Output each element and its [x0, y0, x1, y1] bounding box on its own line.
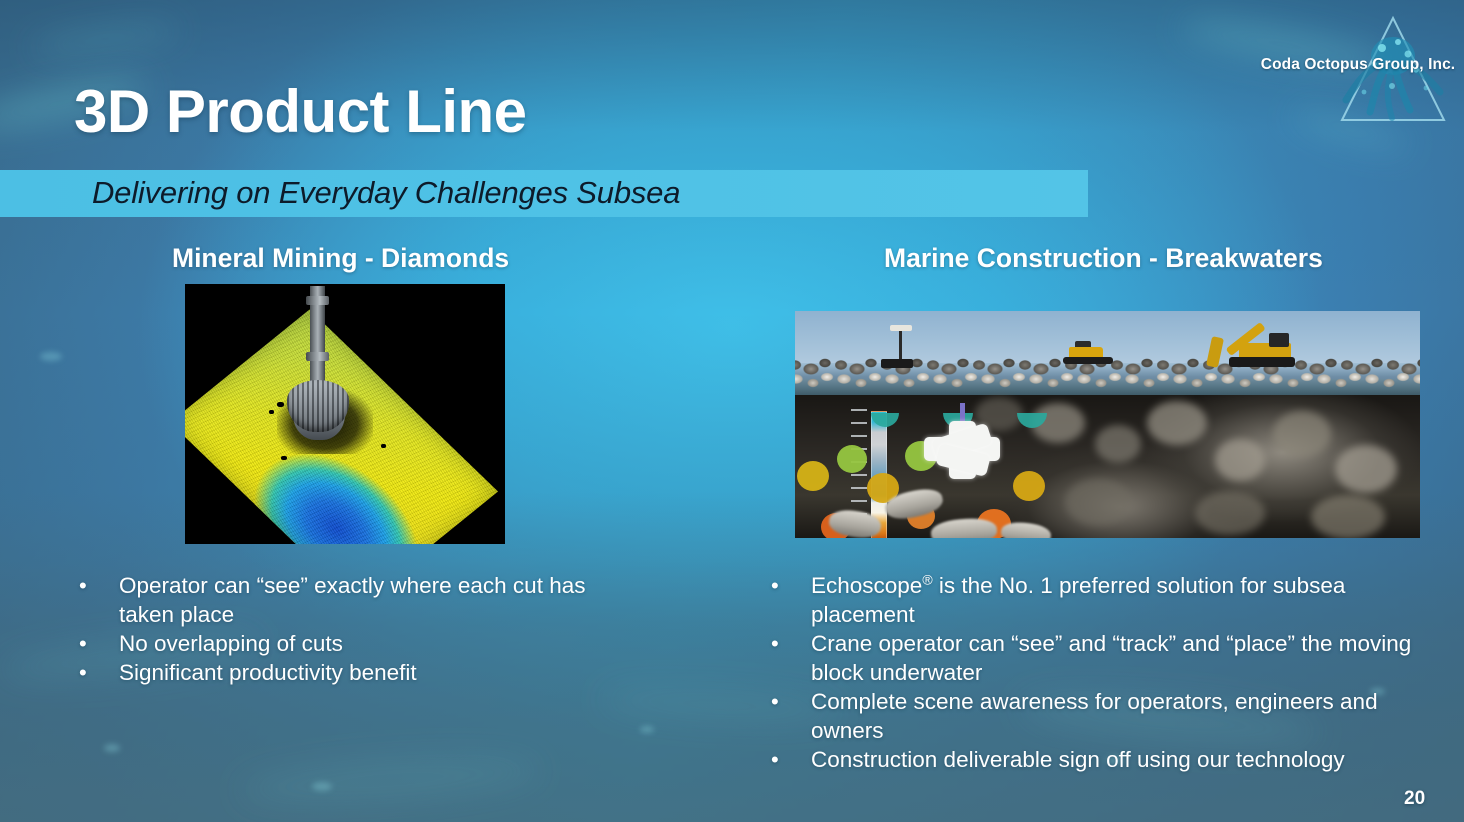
bullet-text: Construction deliverable sign off using … — [811, 745, 1416, 774]
page-title: 3D Product Line — [74, 82, 527, 142]
bullet-text-pre: Echoscope — [811, 573, 922, 598]
drill-collar-lower — [306, 352, 329, 361]
armour-block — [923, 421, 1001, 481]
list-item: • Complete scene awareness for operators… — [766, 687, 1416, 745]
placed-rubble-4 — [1000, 520, 1052, 538]
bullet-text: Significant productivity benefit — [119, 658, 634, 687]
bulldozer-icon — [1063, 347, 1115, 365]
rock-blob-4 — [1215, 439, 1265, 481]
company-logo: Coda Octopus Group, Inc. — [1258, 8, 1464, 140]
list-item: • Echoscope® is the No. 1 preferred solu… — [766, 571, 1416, 629]
bullet-icon: • — [766, 687, 811, 716]
bullet-icon: • — [74, 629, 119, 658]
list-item: • Construction deliverable sign off usin… — [766, 745, 1416, 774]
target-marker-yellow-3 — [1013, 471, 1045, 501]
rock-blob-6 — [1335, 445, 1397, 493]
sonar-3d-drill-seabed-image — [185, 284, 505, 544]
column-heading-marine-construction: Marine Construction - Breakwaters — [884, 243, 1323, 274]
list-item: • Significant productivity benefit — [74, 658, 634, 687]
cut-speck-2 — [269, 410, 274, 414]
target-marker-green-1 — [837, 445, 867, 473]
rock-blob-9 — [1311, 495, 1385, 538]
light-mast-icon — [847, 319, 887, 369]
rock-blob-3 — [1147, 401, 1207, 445]
list-item: • Crane operator can “see” and “track” a… — [766, 629, 1416, 687]
bullet-text: Operator can “see” exactly where each cu… — [119, 571, 634, 629]
breakwater-photo-and-sonar-image — [795, 311, 1420, 538]
presentation-slide: Coda Octopus Group, Inc. 3D Product Line… — [0, 0, 1464, 822]
cut-speck-4 — [413, 402, 417, 406]
rock-blob-8 — [1195, 491, 1265, 535]
list-item: • No overlapping of cuts — [74, 629, 634, 658]
sonar-3d-view — [795, 395, 1420, 538]
breakwater-photo — [795, 311, 1420, 395]
rock-blob-7 — [1065, 479, 1131, 525]
bullet-icon: • — [74, 658, 119, 687]
logo-text: Coda Octopus Group, Inc. — [1258, 56, 1458, 74]
placed-rubble-3 — [930, 517, 998, 538]
bullet-text: No overlapping of cuts — [119, 629, 634, 658]
cut-speck-1 — [277, 402, 284, 407]
bullet-icon: • — [766, 629, 811, 658]
subtitle-text: Delivering on Everyday Challenges Subsea — [92, 175, 680, 211]
list-item: • Operator can “see” exactly where each … — [74, 571, 634, 629]
bullet-text: Complete scene awareness for operators, … — [811, 687, 1416, 745]
registered-trademark-icon: ® — [922, 572, 932, 588]
bullet-text: Echoscope® is the No. 1 preferred soluti… — [811, 571, 1416, 629]
bullet-list-mineral-mining: • Operator can “see” exactly where each … — [74, 571, 634, 687]
page-number: 20 — [1404, 788, 1425, 810]
bullet-icon: • — [74, 571, 119, 600]
cut-speck-3 — [381, 444, 386, 448]
bullet-icon: • — [766, 745, 811, 774]
breakwater-rocks-light — [795, 369, 1420, 393]
excavator-icon — [1213, 313, 1309, 367]
rock-blob-2 — [1095, 425, 1141, 463]
rock-blob-5 — [1273, 411, 1331, 457]
bullet-list-marine-construction: • Echoscope® is the No. 1 preferred solu… — [766, 571, 1416, 774]
cut-speck-5 — [281, 456, 287, 460]
target-marker-yellow-1 — [797, 461, 829, 491]
bullet-text: Crane operator can “see” and “track” and… — [811, 629, 1416, 687]
bullet-icon: • — [766, 571, 811, 600]
drill-collar-upper — [306, 296, 329, 305]
column-heading-mineral-mining: Mineral Mining - Diamonds — [172, 243, 509, 274]
